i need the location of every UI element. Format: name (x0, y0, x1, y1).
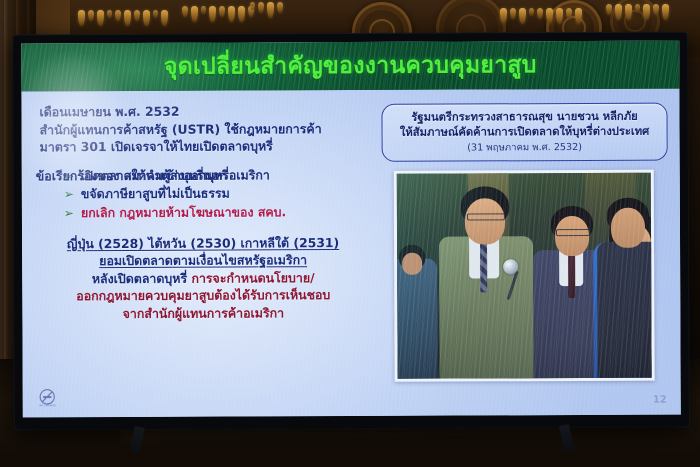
scene: จุดเปลี่ยนสำคัญของงานควบคุมยาสูบ เดือนเม… (0, 0, 700, 467)
text-line-accent: ออกกฎหมายควบคุมยาสูบต้องได้รับการเห็นชอบ (34, 286, 372, 305)
text-block-conclusion: ญี่ปุ่น (2528) ไต้หวัน (2530) เกาหลีใต้ … (34, 234, 372, 324)
photo-person (397, 229, 438, 379)
caption-date: (31 พฤษภาคม พ.ศ. 2532) (391, 140, 659, 156)
caption-line: ให้สัมภาษณ์คัดค้านการเปิดตลาดให้บุหรี่ต่… (391, 124, 659, 140)
text-block-usc301: เดือนเมษายน พ.ศ. 2532 สำนักผู้แทนการค้าส… (39, 102, 371, 156)
bell-decoration (250, 2, 283, 18)
slide-number: 12 (653, 395, 667, 406)
text-block-demands: ข้อเรียกร้องของ สมาคมผู้ส่งออกบุหรี่อเมร… (36, 166, 372, 222)
no-smoking-caption: NO SMOKING (36, 404, 59, 407)
bell-decoration (606, 4, 669, 20)
photo-person (533, 192, 610, 378)
text-line-mixed: หลังเปิดตลาดบุหรี่ การจะกำหนดนโยบาย/ (34, 269, 372, 288)
photo-frame (394, 170, 655, 382)
slide-header: จุดเปลี่ยนสำคัญของงานควบคุมยาสูบ (21, 41, 679, 92)
list-item-label-emphasis: ยกเลิก กฎหมายห้ามโฆษณาของ สคบ. (81, 203, 286, 222)
text-line: เดือนเมษายน พ.ศ. 2532 (39, 102, 371, 121)
list-item-label: ขจัดภาษียาสูบที่ไม่เป็นธรรม (81, 185, 230, 203)
list-item: ➢ ขจัดภาษียาสูบที่ไม่เป็นธรรม (64, 184, 372, 203)
bell-decoration (78, 10, 168, 26)
no-smoking-icon: NO SMOKING (39, 388, 56, 405)
photo-background (397, 173, 652, 379)
page-title: จุดเปลี่ยนสำคัญของงานควบคุมยาสูบ (164, 47, 537, 85)
list-item: ➢ ยกเลิก กฎหมายห้ามโฆษณาของ สคบ. (64, 203, 372, 222)
text-line: สำนักผู้แทนการค้าสหรัฐ (USTR) ใช้กฎหมายก… (40, 120, 372, 139)
bell-decoration (500, 8, 582, 24)
arrow-bullet-icon: ➢ (64, 189, 74, 201)
television[interactable]: จุดเปลี่ยนสำคัญของงานควบคุมยาสูบ เดือนเม… (13, 33, 689, 430)
slide-body: เดือนเมษายน พ.ศ. 2532 สำนักผู้แทนการค้าส… (21, 89, 680, 418)
tv-screen[interactable]: จุดเปลี่ยนสำคัญของงานควบคุมยาสูบ เดือนเม… (21, 41, 681, 418)
text-line: มาตรา 301 เปิดเจรจาให้ไทยเปิดตลาดบุหรี่ (40, 137, 372, 156)
bell-decoration (182, 6, 254, 22)
text-segment-normal: หลังเปิดตลาดบุหรี่ (92, 271, 192, 286)
photo-person-speaker (437, 180, 534, 378)
text-line-underlined: ยอมเปิดตลาดตามเงื่อนไขสหรัฐอเมริกา (34, 251, 372, 270)
caption-box: รัฐมนตรีกระทรวงสาธารณสุข นายชวน หลีกภัย … (381, 103, 667, 162)
press-photo (397, 173, 652, 379)
photo-person (597, 188, 652, 378)
text-segment-accent: การจะกำหนดนโยบาย/ (191, 270, 314, 286)
slide-left-column: เดือนเมษายน พ.ศ. 2532 สำนักผู้แทนการค้าส… (21, 90, 378, 418)
arrow-bullet-icon: ➢ (64, 207, 74, 219)
caption-line: รัฐมนตรีกระทรวงสาธารณสุข นายชวน หลีกภัย (390, 110, 658, 126)
photo-person-blue (593, 198, 652, 378)
demands-heading: ข้อเรียกร้องของ สมาคมผู้ส่งออกบุหรี่อเมร… (36, 166, 270, 185)
text-line-accent: จากสำนักผู้แทนการค้าอเมริกา (34, 304, 372, 323)
presentation-slide: จุดเปลี่ยนสำคัญของงานควบคุมยาสูบ เดือนเม… (21, 41, 681, 418)
text-line-underlined: ญี่ปุ่น (2528) ไต้หวัน (2530) เกาหลีใต้ … (34, 234, 372, 253)
slide-right-column: รัฐมนตรีกระทรวงสาธารณสุข นายชวน หลีกภัย … (377, 89, 680, 416)
